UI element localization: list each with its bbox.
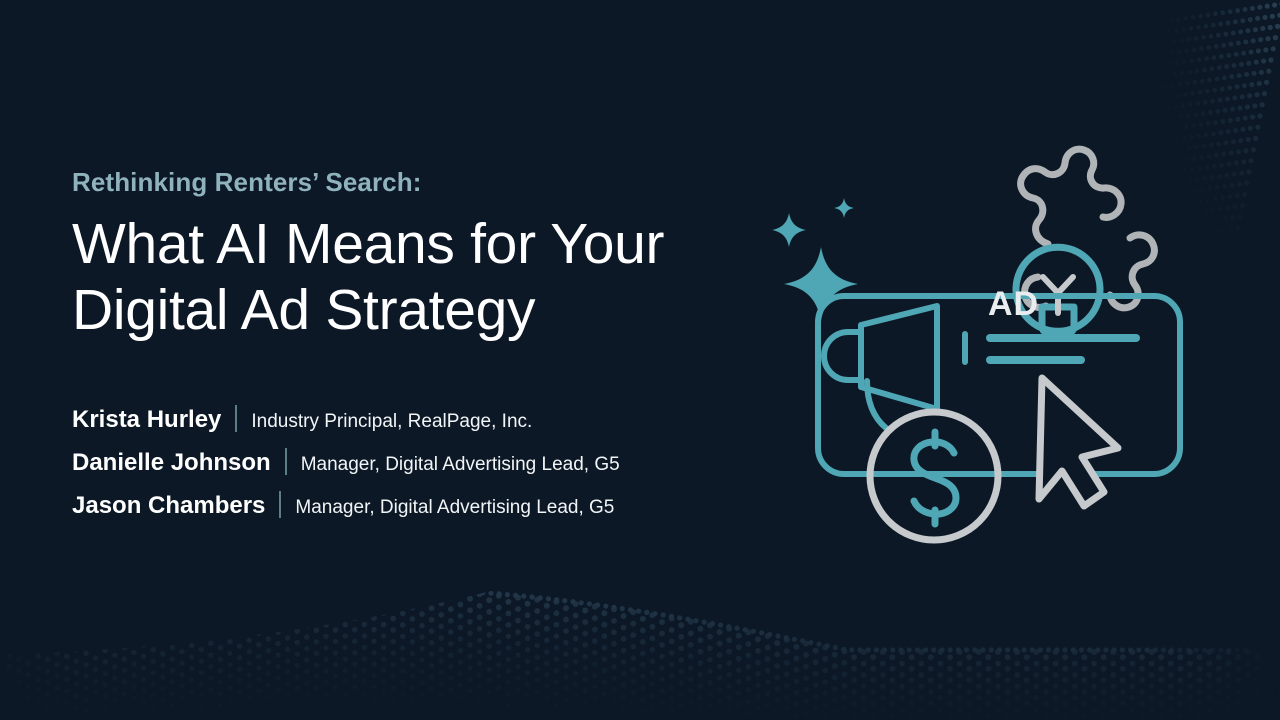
speaker-title: Manager, Digital Advertising Lead, G5 [295, 497, 614, 519]
divider [285, 448, 287, 475]
list-item: Danielle Johnson Manager, Digital Advert… [72, 443, 772, 473]
gear-icon [1021, 149, 1155, 308]
headline-line-1: What AI Means for Your [72, 212, 664, 276]
speaker-title: Manager, Digital Advertising Lead, G5 [301, 454, 620, 476]
page-title: What AI Means for Your Digital Ad Strate… [72, 211, 732, 344]
presentation-slide: Rethinking Renters’ Search: What AI Mean… [0, 0, 1280, 720]
headline-line-2: Digital Ad Strategy [72, 278, 535, 342]
digital-ad-illustration: AD [726, 128, 1206, 558]
speaker-title: Industry Principal, RealPage, Inc. [251, 411, 532, 433]
title-block: Rethinking Renters’ Search: What AI Mean… [72, 168, 732, 344]
divider [235, 405, 237, 432]
speaker-name: Danielle Johnson [72, 449, 271, 477]
divider [279, 491, 281, 518]
ad-copy-lines [990, 338, 1136, 360]
list-item: Krista Hurley Industry Principal, RealPa… [72, 400, 772, 430]
dot-field-bottom-wave [0, 585, 1279, 720]
list-item: Jason Chambers Manager, Digital Advertis… [72, 486, 772, 516]
eyebrow-text: Rethinking Renters’ Search: [72, 168, 732, 197]
cursor-arrow-icon [1039, 378, 1118, 506]
speaker-name: Jason Chambers [72, 492, 265, 520]
ad-label: AD [988, 285, 1039, 323]
sparkles-icon [772, 198, 858, 321]
speaker-name: Krista Hurley [72, 406, 221, 434]
speaker-list: Krista Hurley Industry Principal, RealPa… [72, 400, 772, 529]
